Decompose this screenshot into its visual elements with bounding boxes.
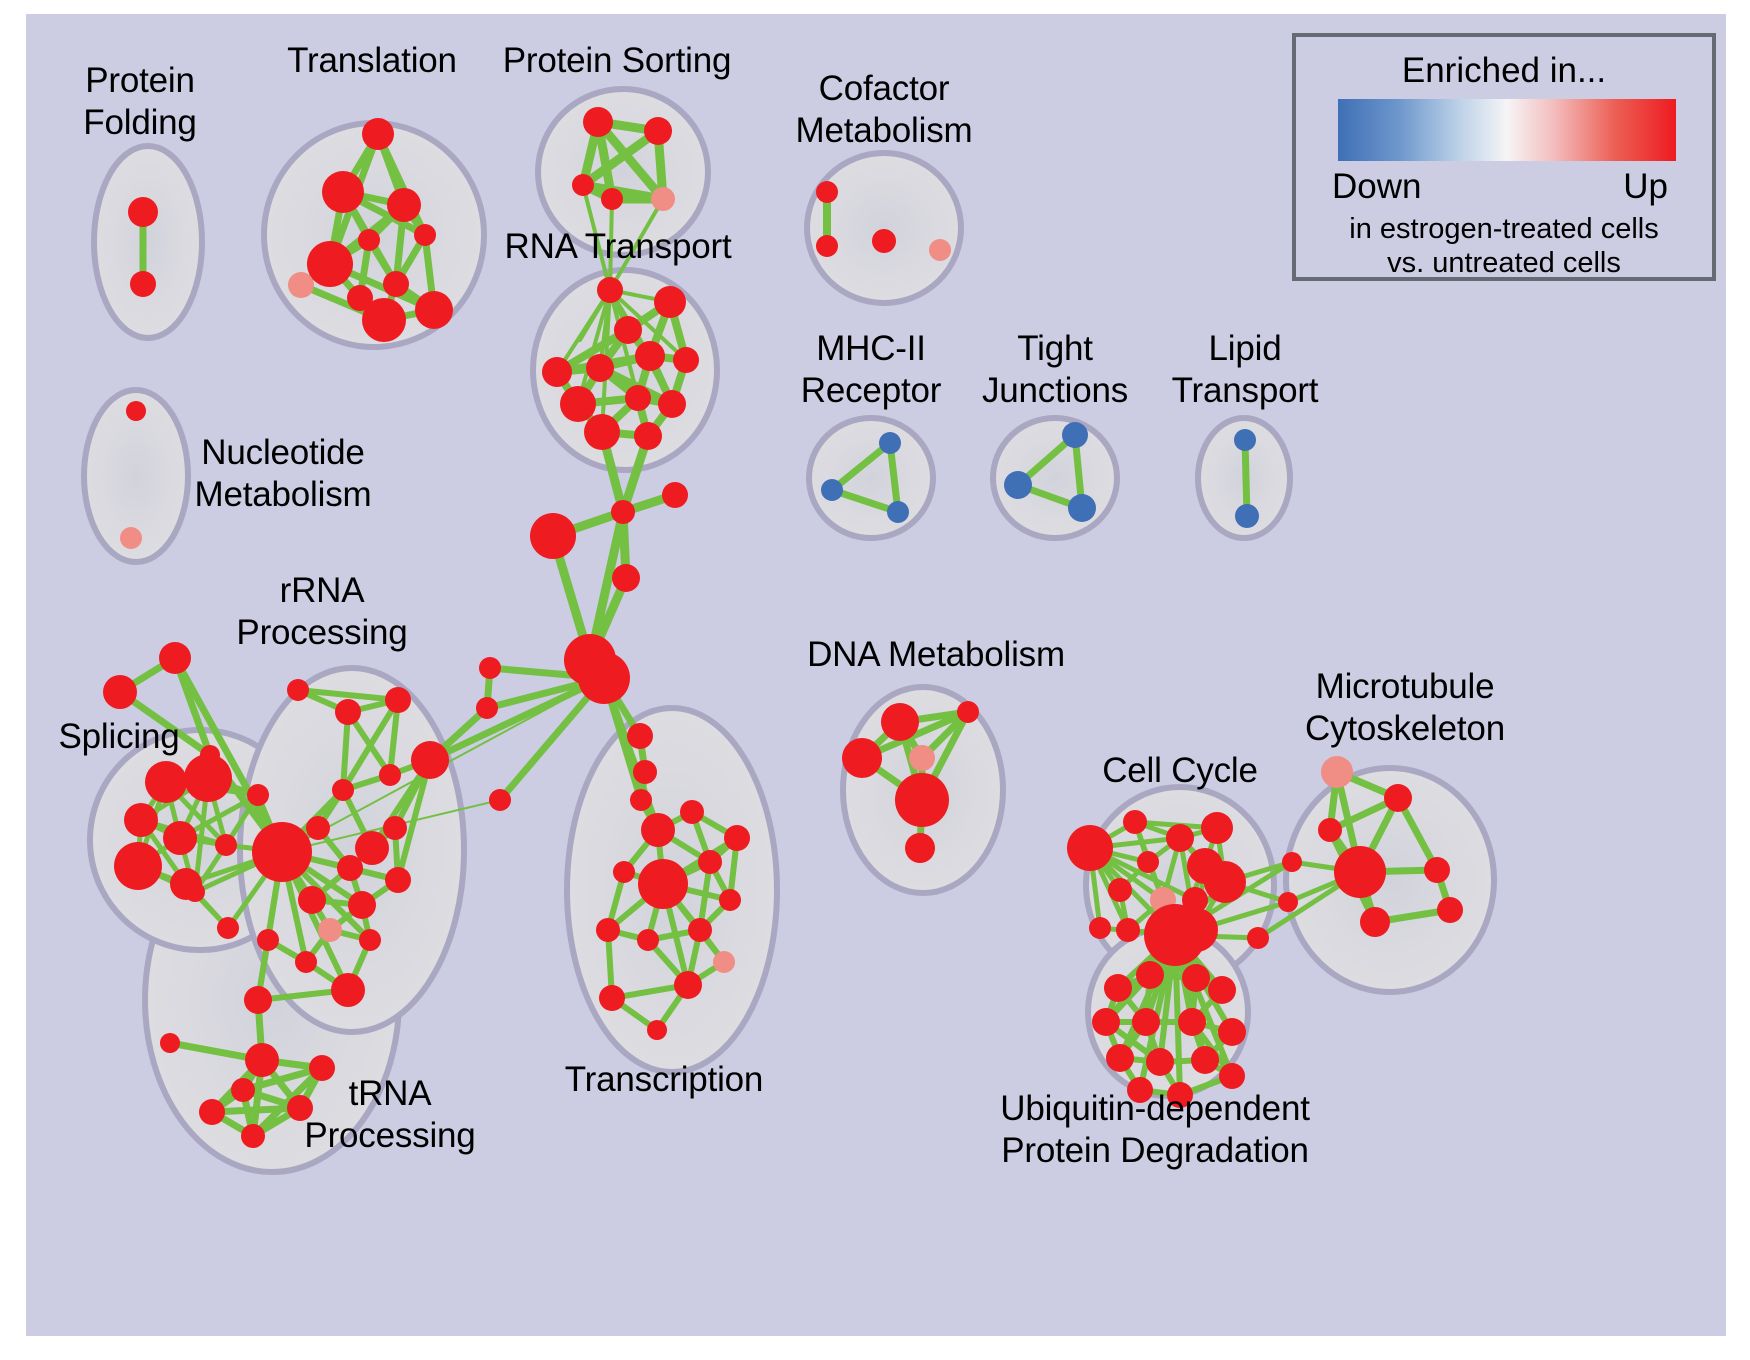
- legend-low-label: Down: [1332, 167, 1421, 207]
- legend-panel: Enriched in... Down Up in estrogen-treat…: [1292, 33, 1716, 281]
- cluster-hull-mhc-ii-receptor: [809, 418, 933, 538]
- legend-color-gradient-bar: [1338, 99, 1676, 161]
- legend-title: Enriched in...: [1296, 51, 1712, 91]
- legend-caption-line2: vs. untreated cells: [1296, 247, 1712, 280]
- enrichment-map-figure: Protein Folding Translation Protein Sort…: [0, 0, 1750, 1360]
- cluster-hull-protein-sorting: [538, 89, 708, 255]
- legend-caption-line1: in estrogen-treated cells: [1296, 213, 1712, 246]
- cluster-hull-protein-folding: [94, 146, 202, 338]
- legend-high-label: Up: [1623, 167, 1668, 207]
